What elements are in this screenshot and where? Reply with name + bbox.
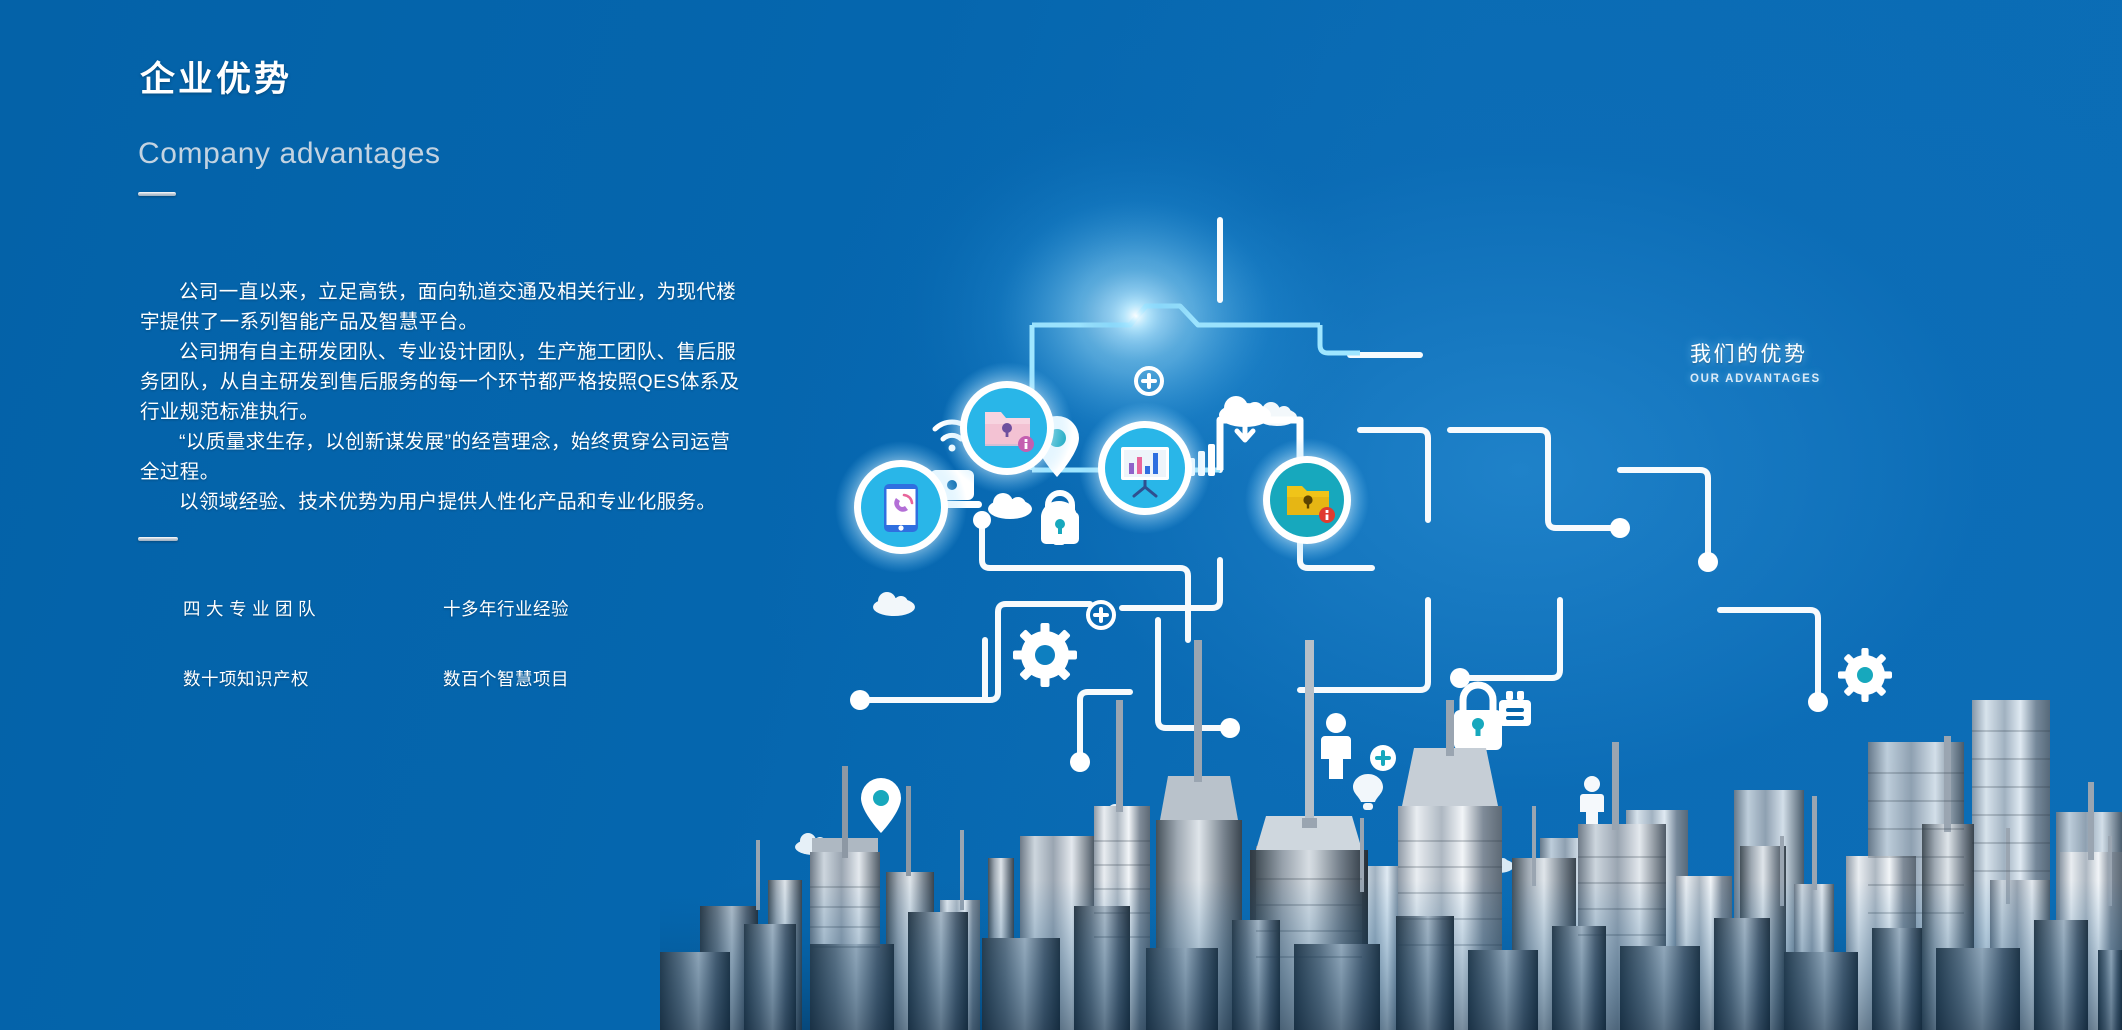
locked-folder-icon (1245, 438, 1369, 562)
secure-folder-icon (941, 362, 1073, 494)
body-paragraphs: 公司一直以来，立足高铁，面向轨道交通及相关行业，为现代楼宇提供了一系列智能产品及… (140, 277, 740, 517)
page-title-cn: 企业优势 (140, 59, 292, 101)
plus-node-icon (1088, 602, 1114, 628)
stats-divider (138, 537, 178, 541)
stat-item-patents: 数十项知识产权 (183, 666, 443, 691)
company-advantages-banner: 企业优势 Company advantages 公司一直以来，立足高铁，面向轨道… (0, 0, 2122, 1030)
page-title-en: Company advantages (138, 136, 441, 172)
stats-row: 数十项知识产权 数百个智慧项目 (183, 666, 703, 691)
gear-icon (1838, 648, 1892, 702)
server-icon (1499, 691, 1531, 726)
paragraph: 公司一直以来，立足高铁，面向轨道交通及相关行业，为现代楼宇提供了一系列智能产品及… (140, 277, 740, 337)
plus-node-icon (1370, 745, 1396, 771)
paragraph: 以领域经验、技术优势为用户提供人性化产品和专业化服务。 (140, 487, 740, 517)
stats-grid: 四大专业团队 十多年行业经验 数十项知识产权 数百个智慧项目 (183, 596, 703, 691)
phone-call-icon (835, 441, 967, 573)
title-divider (138, 192, 176, 196)
paragraph: “以质量求生存，以创新谋发展”的经营理念，始终贯穿公司运营全过程。 (140, 427, 740, 487)
smart-city-illustration: 我们的优势 OUR ADVANTAGES (660, 0, 2122, 1030)
stats-row: 四大专业团队 十多年行业经验 (183, 596, 703, 621)
stat-item-teams: 四大专业团队 (183, 596, 443, 621)
person-icon (1580, 776, 1604, 826)
presentation-chart-icon (1079, 402, 1211, 534)
paragraph: 公司拥有自主研发团队、专业设计团队，生产施工团队、售后服务团队，从自主研发到售后… (140, 337, 740, 427)
person-icon (1321, 713, 1351, 779)
map-pin-icon (861, 778, 901, 833)
lightbulb-icon (1353, 774, 1383, 810)
cloud-icon (873, 592, 915, 616)
padlock-icon (1454, 685, 1502, 750)
gear-icon (1013, 623, 1077, 687)
